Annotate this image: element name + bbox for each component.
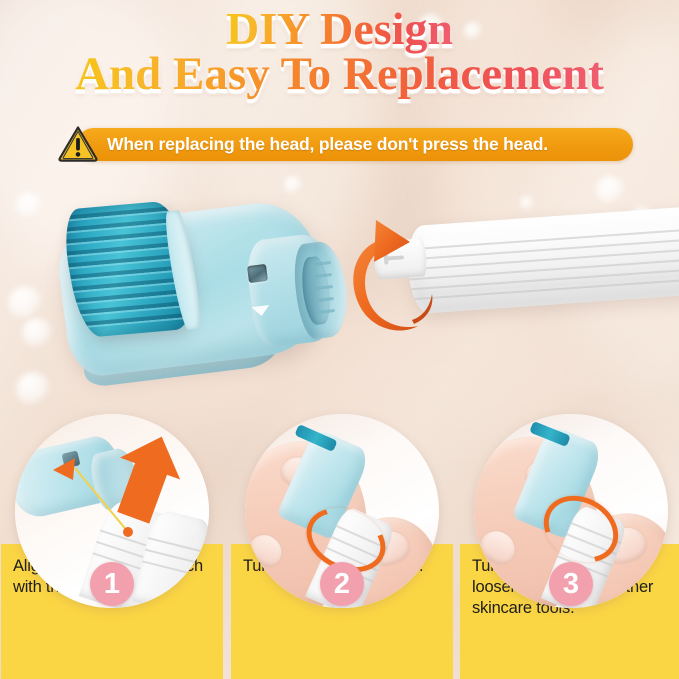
- step-image-3: 3: [474, 414, 668, 608]
- title-line-2: And Easy To Replacement And Easy To Repl…: [0, 51, 679, 99]
- step1-small-arrow-icon: [51, 454, 83, 482]
- step-column-1: Align the handle's "T" latch with the tr…: [1, 414, 223, 679]
- title-line-2-text: And Easy To Replacement: [75, 48, 604, 100]
- rotation-arrow-icon: [336, 206, 446, 346]
- product-illustration: [0, 170, 679, 420]
- step-number-badge-3: 3: [549, 562, 593, 606]
- step-image-2: 2: [245, 414, 439, 608]
- step-number-badge-2: 2: [320, 562, 364, 606]
- title-block: DIY Design DIY Design And Easy To Replac…: [0, 6, 679, 99]
- white-handle: [405, 206, 679, 315]
- warning-banner: When replacing the head, please don't pr…: [58, 128, 633, 161]
- warning-pill: When replacing the head, please don't pr…: [77, 128, 633, 161]
- warning-triangle-icon: [58, 125, 98, 163]
- warning-text: When replacing the head, please don't pr…: [107, 134, 548, 155]
- step-column-3: Turn counterclockwise to loosen for chan…: [460, 414, 679, 679]
- step-number-badge-1: 1: [90, 562, 134, 606]
- steps-section: Align the handle's "T" latch with the tr…: [0, 414, 679, 679]
- title-line-1-text: DIY Design: [226, 3, 453, 54]
- step-image-1: 1: [15, 414, 209, 608]
- step-column-2: Turn clockwise to tighten.: [231, 414, 453, 679]
- step1-big-arrow-icon: [111, 428, 191, 524]
- infographic-page: DIY Design DIY Design And Easy To Replac…: [0, 0, 679, 679]
- title-line-1: DIY Design DIY Design: [0, 6, 679, 53]
- head-switch-icon: [247, 264, 268, 283]
